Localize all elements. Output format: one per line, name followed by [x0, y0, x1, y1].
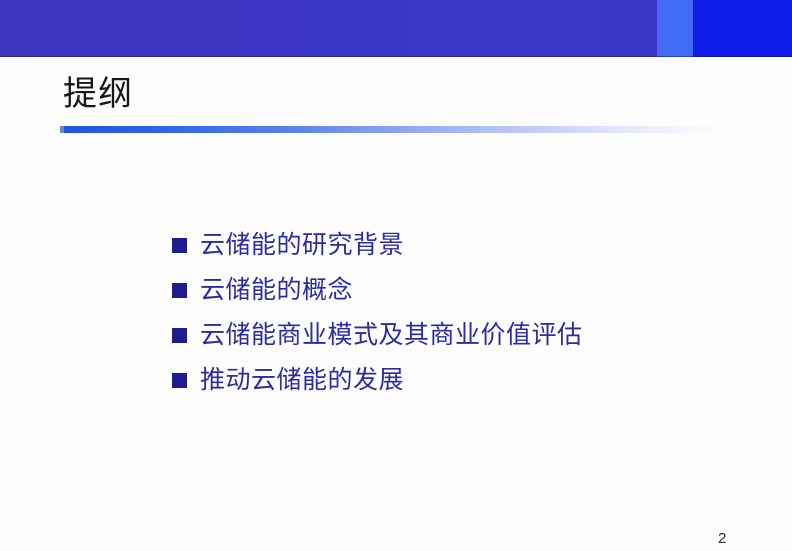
outline-bullet-list: 云储能的研究背景 云储能的概念 云储能商业模式及其商业价值评估 推动云储能的发展: [172, 222, 772, 402]
presentation-slide: 提纲 云储能的研究背景 云储能的概念 云储能商业模式及其商业价值评估 推动云储能…: [0, 0, 792, 551]
list-item[interactable]: 云储能的概念: [172, 267, 772, 312]
header-accent-light-band: [657, 0, 693, 57]
list-item[interactable]: 推动云储能的发展: [172, 357, 772, 402]
title-underline-rule: [60, 126, 736, 133]
square-bullet-icon: [172, 373, 187, 388]
list-item-label: 云储能的概念: [200, 275, 353, 305]
list-item-label: 推动云储能的发展: [200, 365, 404, 395]
page-number: 2: [718, 530, 726, 547]
header-accent-bright-band: [693, 0, 792, 57]
list-item[interactable]: 云储能的研究背景: [172, 222, 772, 267]
list-item-label: 云储能的研究背景: [200, 230, 404, 260]
header-bottom-hairline: [0, 56, 792, 57]
list-item[interactable]: 云储能商业模式及其商业价值评估: [172, 312, 772, 357]
list-item-label: 云储能商业模式及其商业价值评估: [200, 320, 583, 350]
square-bullet-icon: [172, 238, 187, 253]
header-banner: [0, 0, 792, 57]
square-bullet-icon: [172, 283, 187, 298]
title-underline-rule-cap: [60, 126, 64, 133]
page-title: 提纲: [63, 72, 133, 116]
square-bullet-icon: [172, 328, 187, 343]
